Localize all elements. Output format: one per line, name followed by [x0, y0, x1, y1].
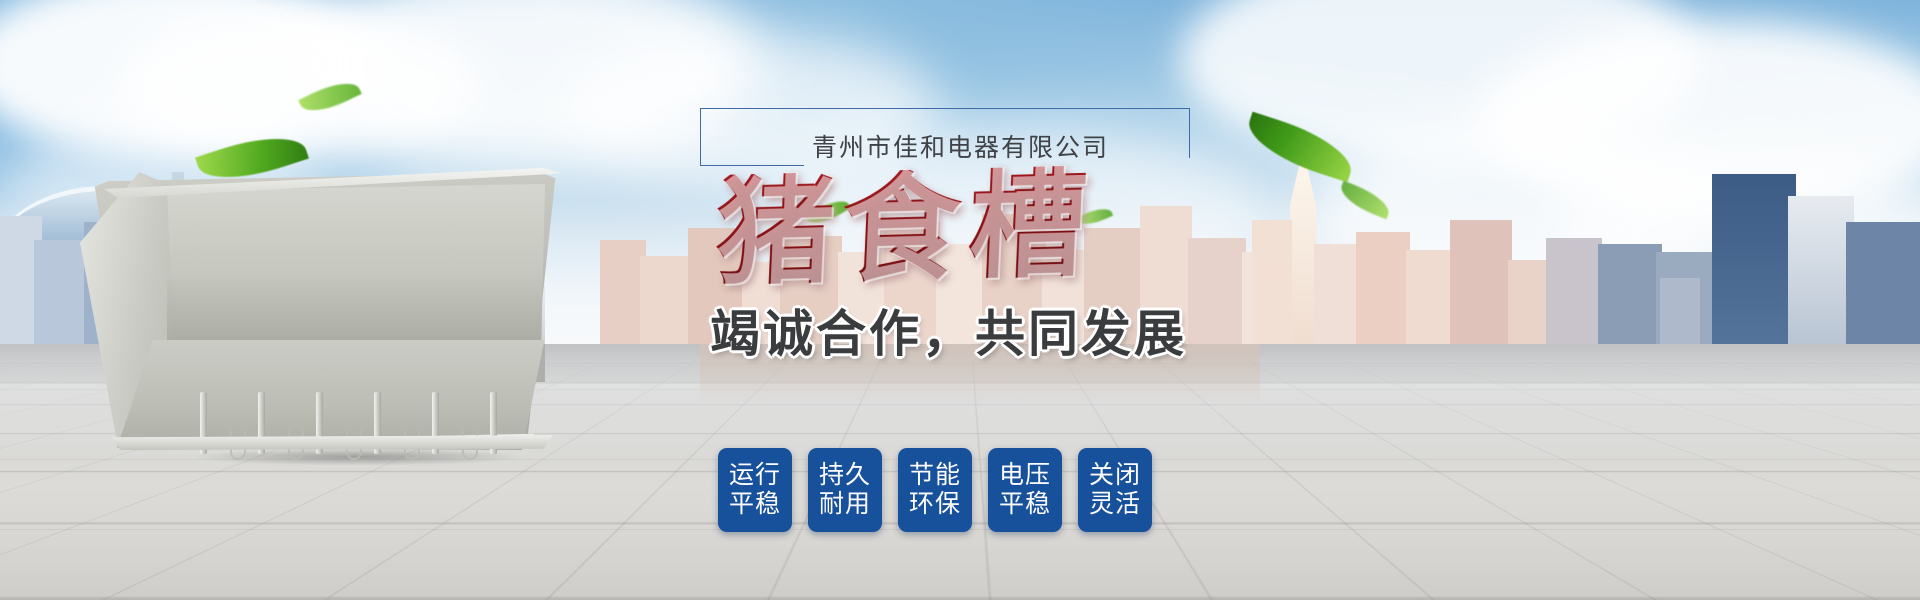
product-image-feeder-trough [72, 162, 592, 462]
frame-right-line [1189, 108, 1190, 158]
building [640, 256, 692, 348]
trough-body [72, 162, 592, 462]
company-name: 青州市佳和电器有限公司 [812, 128, 1109, 164]
building [1660, 278, 1700, 348]
building [1546, 238, 1602, 348]
badge-line-1: 电压 [999, 461, 1051, 491]
feature-badge[interactable]: 节能 环保 [898, 448, 972, 532]
skyscraper [1788, 196, 1854, 348]
badge-line-2: 平稳 [999, 490, 1051, 520]
badge-line-1: 运行 [729, 461, 781, 491]
badge-line-2: 平稳 [729, 490, 781, 520]
feature-badge[interactable]: 持久 耐用 [808, 448, 882, 532]
frame-bottom-line [700, 165, 804, 166]
feature-badge[interactable]: 运行 平稳 [718, 448, 792, 532]
building [1356, 232, 1410, 348]
badge-line-1: 节能 [909, 461, 961, 491]
page-title: 猪食槽 [713, 165, 1097, 295]
building [1598, 244, 1662, 348]
frame-top-line [700, 108, 1190, 109]
building [1846, 222, 1920, 348]
frame-left-line [700, 108, 701, 166]
badge-line-1: 持久 [819, 461, 871, 491]
badge-line-2: 环保 [909, 490, 961, 520]
feature-badge-list: 运行 平稳 持久 耐用 节能 环保 电压 平稳 关闭 灵活 [718, 448, 1152, 532]
promotional-banner: 青州市佳和电器有限公司 猪食槽 竭诚合作，共同发展 运行 平稳 持久 耐用 节能… [0, 0, 1920, 600]
badge-line-1: 关闭 [1089, 461, 1141, 491]
feature-badge[interactable]: 关闭 灵活 [1078, 448, 1152, 532]
sub-title: 竭诚合作，共同发展 [710, 294, 1187, 366]
feature-badge[interactable]: 电压 平稳 [988, 448, 1062, 532]
badge-line-2: 灵活 [1089, 490, 1141, 520]
building [1450, 220, 1512, 348]
badge-line-2: 耐用 [819, 490, 871, 520]
building [1406, 250, 1454, 348]
skyscraper [1712, 174, 1796, 348]
